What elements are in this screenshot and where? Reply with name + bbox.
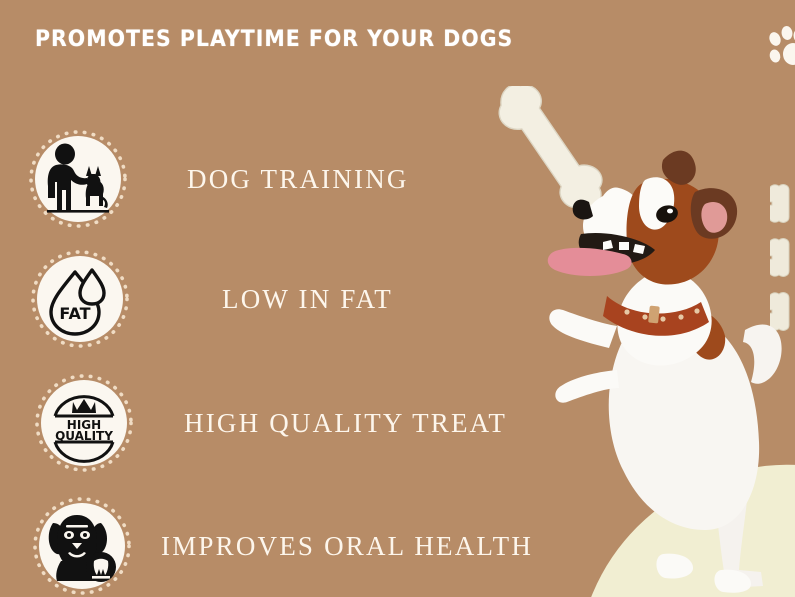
feature-badge bbox=[30, 494, 134, 597]
feature-item-high-quality[interactable]: HIGH QUALITY HIGH QUALITY TREAT bbox=[32, 371, 507, 475]
dog-dental-icon bbox=[39, 503, 125, 589]
feature-item-oral-health[interactable]: IMPROVES ORAL HEALTH bbox=[30, 494, 533, 597]
feature-badge bbox=[26, 127, 130, 231]
feature-label: HIGH QUALITY TREAT bbox=[184, 408, 507, 439]
fat-label: FAT bbox=[59, 304, 90, 323]
feature-badge: HIGH QUALITY bbox=[32, 371, 136, 475]
feature-item-dog-training[interactable]: DOG TRAINING bbox=[26, 127, 409, 231]
feature-label: LOW IN FAT bbox=[222, 284, 393, 315]
high-quality-badge-icon: HIGH QUALITY bbox=[41, 380, 127, 466]
feature-badge: FAT bbox=[28, 247, 132, 351]
fat-droplet-icon: FAT bbox=[37, 256, 123, 342]
paw-print-icon bbox=[766, 26, 795, 68]
feature-list: DOG TRAINING FAT LOW IN FAT bbox=[0, 0, 560, 597]
feature-label: IMPROVES ORAL HEALTH bbox=[161, 531, 533, 562]
feature-item-low-in-fat[interactable]: FAT LOW IN FAT bbox=[28, 247, 393, 351]
jack-russell-terrier-photo bbox=[545, 130, 795, 597]
dog-training-icon bbox=[35, 136, 121, 222]
feature-label: DOG TRAINING bbox=[187, 164, 409, 195]
high-quality-line2: QUALITY bbox=[55, 429, 113, 443]
promo-banner: PROMOTES PLAYTIME FOR YOUR DOGS bbox=[0, 0, 795, 597]
